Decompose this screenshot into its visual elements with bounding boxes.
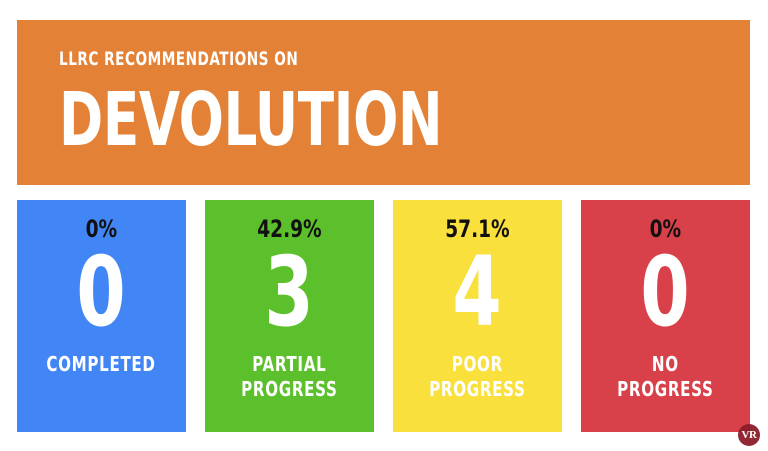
watermark-logo: VR [738, 424, 760, 446]
stat-label: PARTIAL PROGRESS [241, 352, 337, 402]
stat-label: COMPLETED [47, 352, 156, 377]
stat-card-completed: 0% 0 COMPLETED [17, 200, 186, 432]
stat-count: 3 [265, 247, 314, 338]
watermark-label: VR [742, 430, 757, 441]
stat-count: 4 [453, 247, 502, 338]
page-title: DEVOLUTION [59, 83, 612, 157]
stat-label: POOR PROGRESS [429, 352, 525, 402]
stat-label: NO PROGRESS [617, 352, 713, 402]
stat-card-no-progress: 0% 0 NO PROGRESS [581, 200, 750, 432]
header-banner: LLRC RECOMMENDATIONS ON DEVOLUTION [17, 20, 750, 185]
infographic-canvas: LLRC RECOMMENDATIONS ON DEVOLUTION 0% 0 … [0, 0, 768, 451]
header-kicker: LLRC RECOMMENDATIONS ON [59, 50, 612, 69]
stat-card-partial-progress: 42.9% 3 PARTIAL PROGRESS [205, 200, 374, 432]
stat-cards-row: 0% 0 COMPLETED 42.9% 3 PARTIAL PROGRESS … [17, 200, 750, 432]
stat-count: 0 [77, 247, 126, 338]
stat-count: 0 [641, 247, 690, 338]
stat-card-poor-progress: 57.1% 4 POOR PROGRESS [393, 200, 562, 432]
